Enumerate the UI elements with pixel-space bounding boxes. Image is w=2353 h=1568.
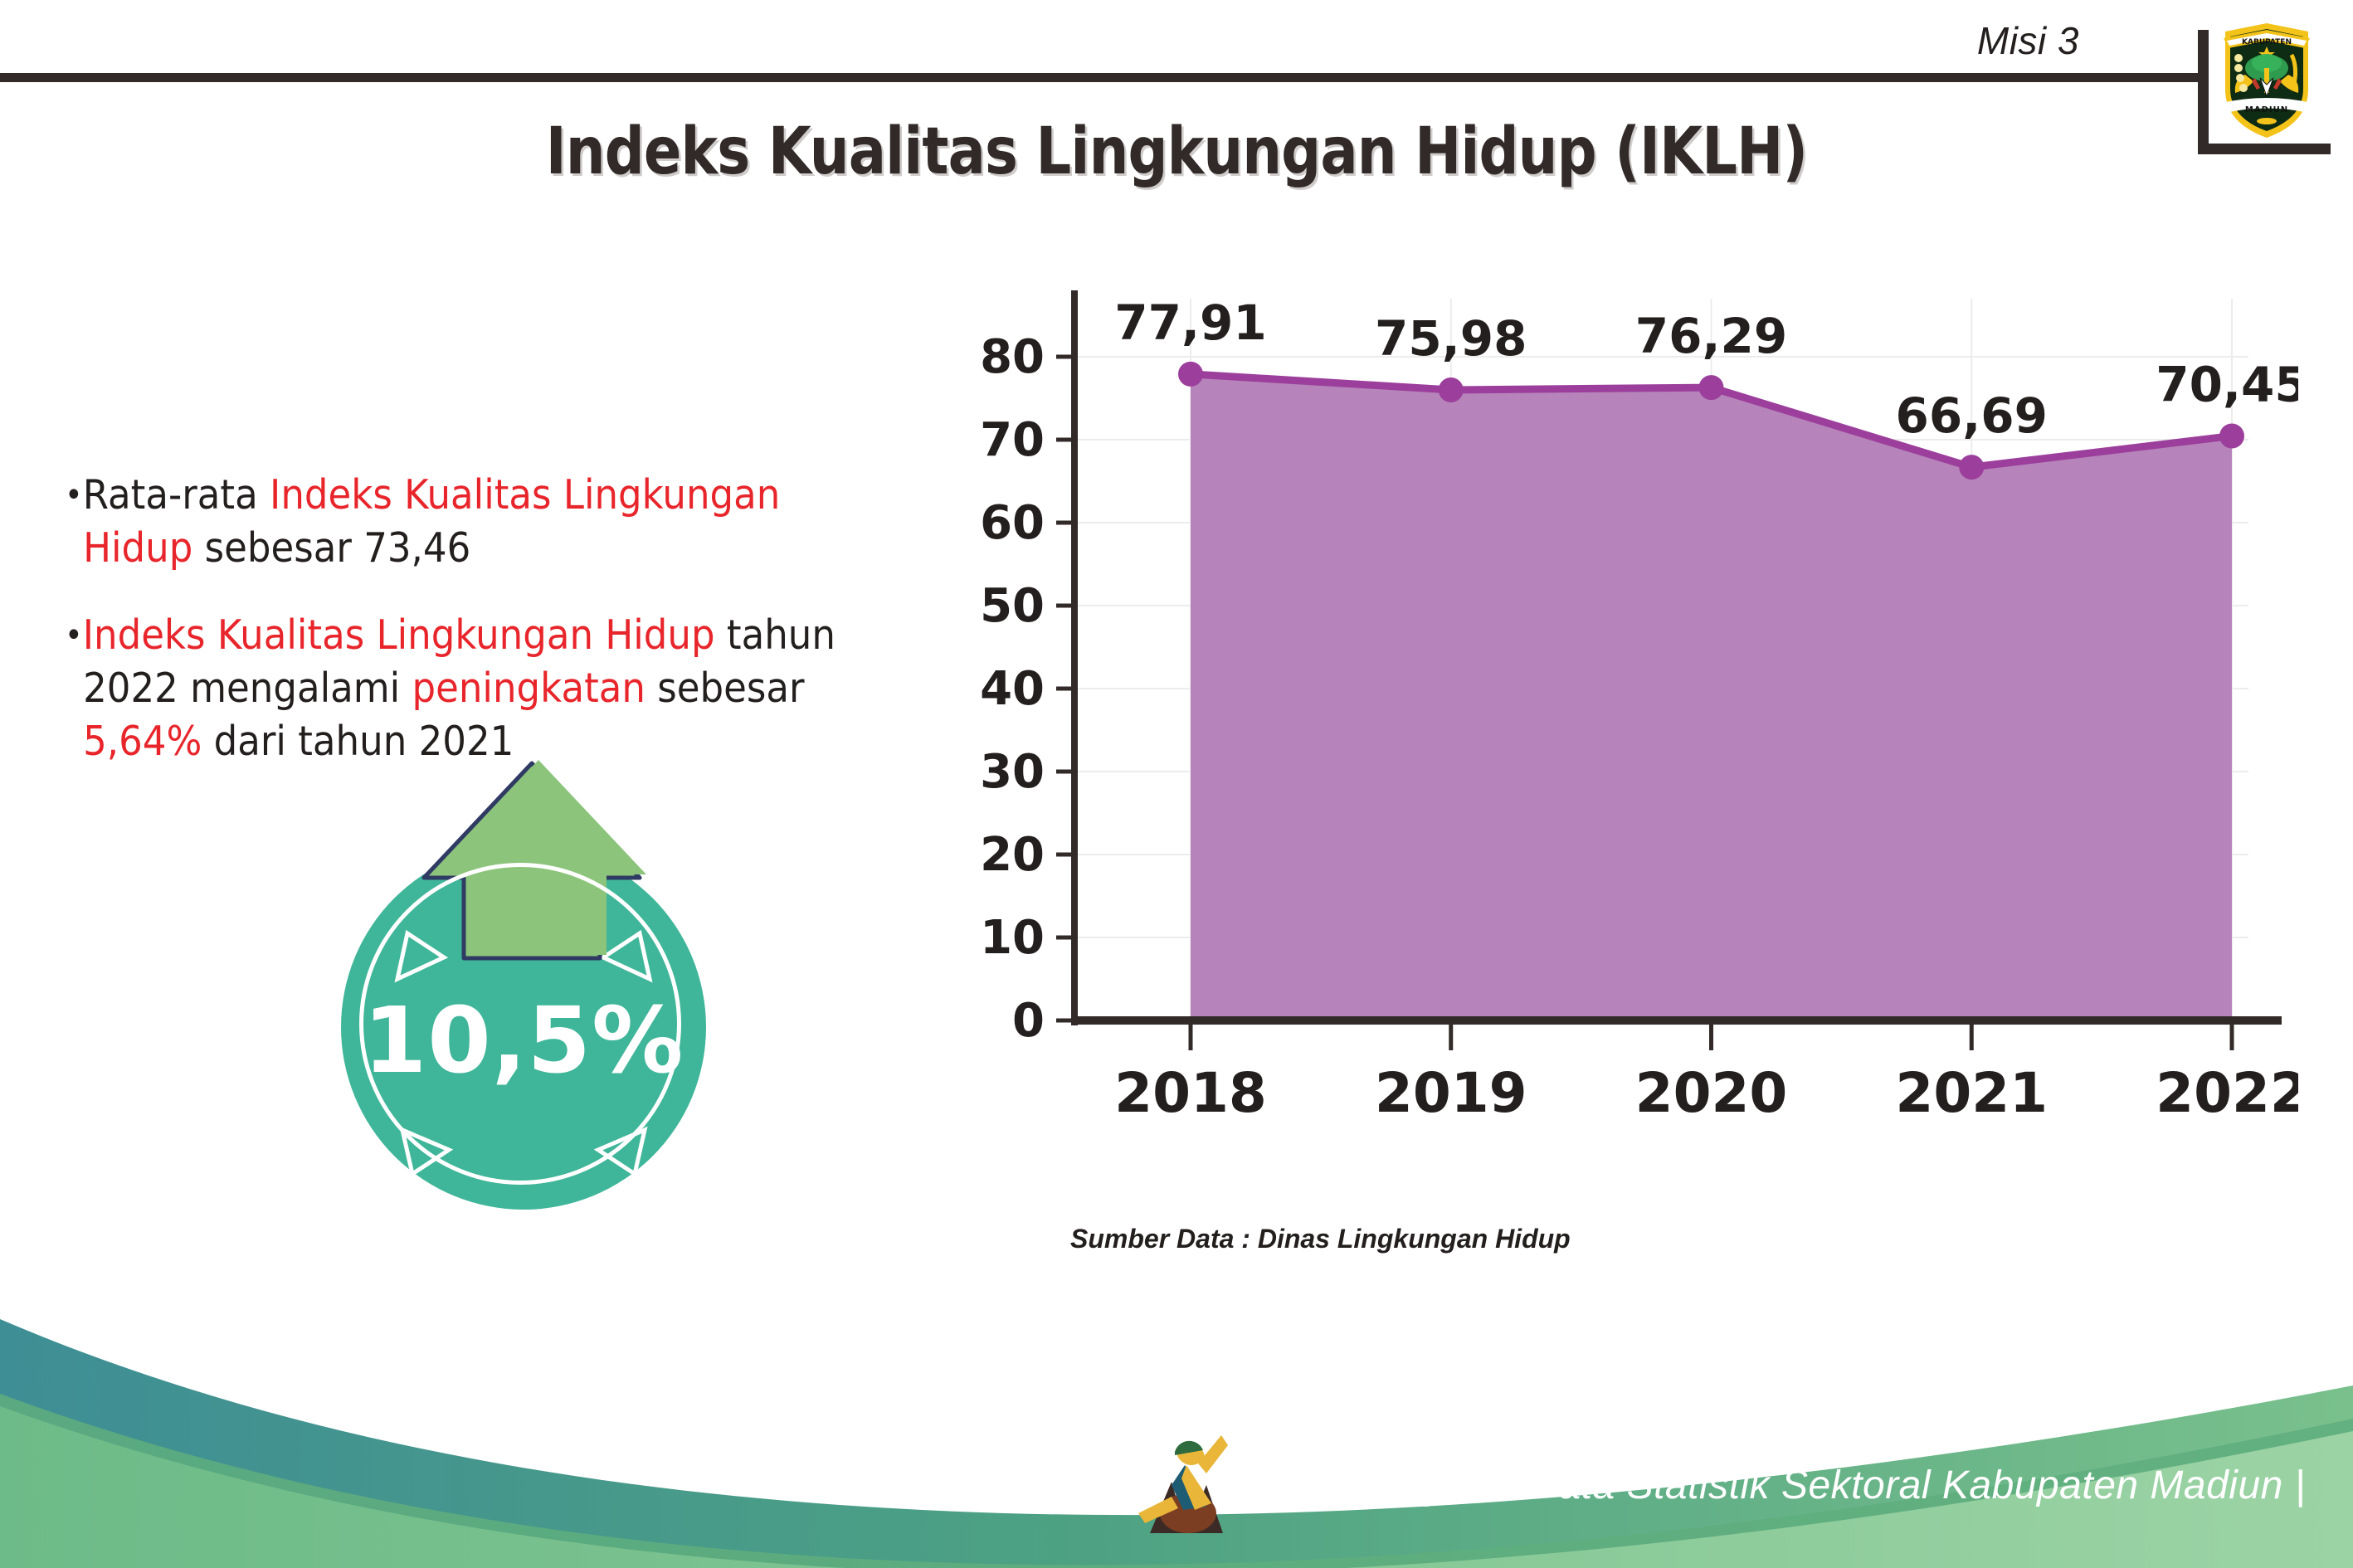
data-label-2021: 66,69 [1896,387,2048,444]
footer-caption: Media Infografis Data Statistik Sektoral… [1228,1463,2306,1508]
increase-badge: 10,5% [326,755,774,1220]
badge-value: 10,5% [341,987,706,1093]
bullet-dot-icon: • [65,476,83,514]
ytick-30: 30 [980,745,1045,799]
ytick-20: 20 [980,828,1045,882]
bullet2-seg-2: peningkatan [412,665,645,712]
svg-text:MADIUN: MADIUN [2245,105,2288,114]
logo-bracket-vertical [2198,30,2209,154]
xtick-2018: 2018 [1114,1061,1267,1125]
ytick-80: 80 [980,330,1045,384]
media-infografis-figure-logo [1135,1427,1235,1543]
svg-text:KABUPATEN: KABUPATEN [2242,38,2292,46]
data-label-2020: 76,29 [1635,308,1787,364]
bullet-seg-2: sebesar 73,46 [192,524,470,572]
xtick-2021: 2021 [1895,1061,2048,1125]
data-label-2018: 77,91 [1114,295,1266,351]
xtick-2020: 2020 [1635,1061,1788,1125]
mission-label: Misi 3 [1977,18,2079,63]
bullet-item-increase: •Indeks Kualitas Lingkungan Hidup tahun … [65,609,897,767]
xtick-2022: 2022 [2156,1061,2298,1125]
ytick-50: 50 [980,579,1045,633]
bullet-dot-icon: • [65,616,83,655]
data-label-2019: 75,98 [1375,310,1527,367]
bullet-item-average: •Rata-rata Indeks Kualitas Lingkungan Hi… [65,469,897,574]
ytick-0: 0 [1012,994,1045,1048]
ytick-70: 70 [980,413,1045,467]
bullet2-seg-3: sebesar [645,665,805,712]
xtick-2019: 2019 [1375,1061,1527,1125]
data-label-2022: 70,45 [2156,357,2298,413]
bullet-seg-0: Rata-rata [83,471,270,519]
logo-bracket-horizontal [2198,144,2331,154]
kabupaten-madiun-crest-logo: KABUPATEN MADIUN [2217,17,2316,141]
header-divider-rule [0,73,2202,82]
ytick-60: 60 [980,496,1045,550]
bullet2-seg-4: 5,64% [83,718,202,765]
iklh-area-chart: 77,9175,9876,2966,6970,45010203040506070… [954,274,2298,1203]
footer-banner: Media Infografis Data Statistik Sektoral… [0,1294,2353,1568]
ytick-40: 40 [980,662,1045,716]
ytick-10: 10 [980,911,1045,965]
bullet2-seg-0: Indeks Kualitas Lingkungan Hidup [83,611,715,659]
infographic-slide: Misi 3 KABUPATEN MADIUN [0,0,2353,1568]
page-title: Indeks Kualitas Lingkungan Hidup (IKLH) [165,114,2189,189]
bullet-list: •Rata-rata Indeks Kualitas Lingkungan Hi… [65,469,969,802]
chart-source-note: Sumber Data : Dinas Lingkungan Hidup [1070,1224,1571,1254]
